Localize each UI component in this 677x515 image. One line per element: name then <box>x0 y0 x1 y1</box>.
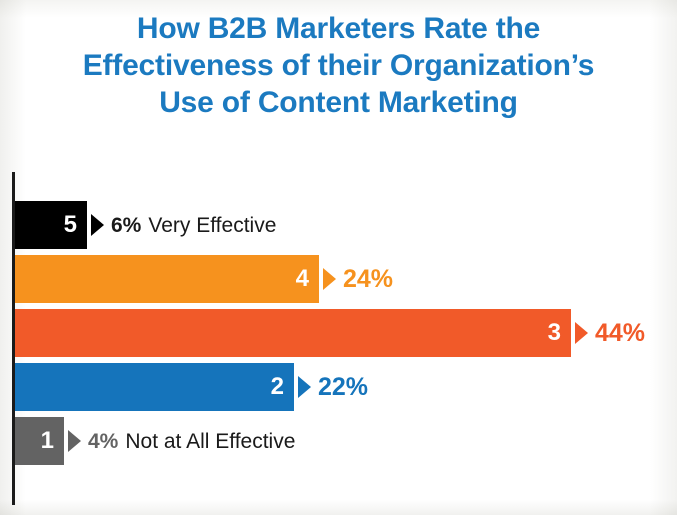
bar-value-group-3: 44% <box>595 321 652 346</box>
bar-rating-label-4: 4 <box>296 267 309 291</box>
bar-rating-2: 2 <box>15 363 294 411</box>
title-line-1: How B2B Marketers Rate the <box>18 10 659 47</box>
bar-arrow-icon-4 <box>323 268 336 290</box>
bar-rating-4: 4 <box>15 255 319 303</box>
bar-rating-1: 1 <box>15 417 64 465</box>
bar-value-group-5: 6% Very Effective <box>111 215 276 236</box>
bar-value-label-3: 44% <box>595 321 645 346</box>
bar-row-rating-1: 1 4% Not at All Effective <box>15 417 677 465</box>
bar-descriptor-1: Not at All Effective <box>125 431 295 452</box>
bar-arrow-icon-3 <box>575 322 588 344</box>
bar-rating-3: 3 <box>15 309 571 357</box>
bar-value-group-1: 4% Not at All Effective <box>88 431 295 452</box>
bar-value-group-4: 24% <box>343 267 400 292</box>
bar-value-label-5: 6% <box>111 215 141 236</box>
infographic-chart: How B2B Marketers Rate the Effectiveness… <box>0 0 677 515</box>
page-title: How B2B Marketers Rate the Effectiveness… <box>0 10 677 121</box>
bar-rating-label-3: 3 <box>548 321 561 345</box>
bar-row-rating-5: 5 6% Very Effective <box>15 201 677 249</box>
bar-row-rating-4: 4 24% <box>15 255 677 303</box>
bar-row-rating-3: 3 44% <box>15 309 677 357</box>
bar-row-rating-2: 2 22% <box>15 363 677 411</box>
bar-value-label-2: 22% <box>318 375 368 400</box>
bar-arrow-icon-2 <box>298 376 311 398</box>
bar-rating-label-1: 1 <box>41 429 54 453</box>
bar-arrow-icon-1 <box>68 430 81 452</box>
bar-value-group-2: 22% <box>318 375 375 400</box>
title-line-2: Effectiveness of their Organization’s <box>18 47 659 84</box>
bar-rating-label-2: 2 <box>271 375 284 399</box>
bar-rating-label-5: 5 <box>64 213 77 237</box>
title-line-3: Use of Content Marketing <box>18 84 659 121</box>
bar-value-label-4: 24% <box>343 267 393 292</box>
bar-arrow-icon-5 <box>91 214 104 236</box>
bar-chart: 5 6% Very Effective 4 24% <box>0 160 677 515</box>
bar-rows: 5 6% Very Effective 4 24% <box>15 201 677 465</box>
bar-value-label-1: 4% <box>88 431 118 452</box>
bar-rating-5: 5 <box>15 201 87 249</box>
bar-descriptor-5: Very Effective <box>148 215 276 236</box>
